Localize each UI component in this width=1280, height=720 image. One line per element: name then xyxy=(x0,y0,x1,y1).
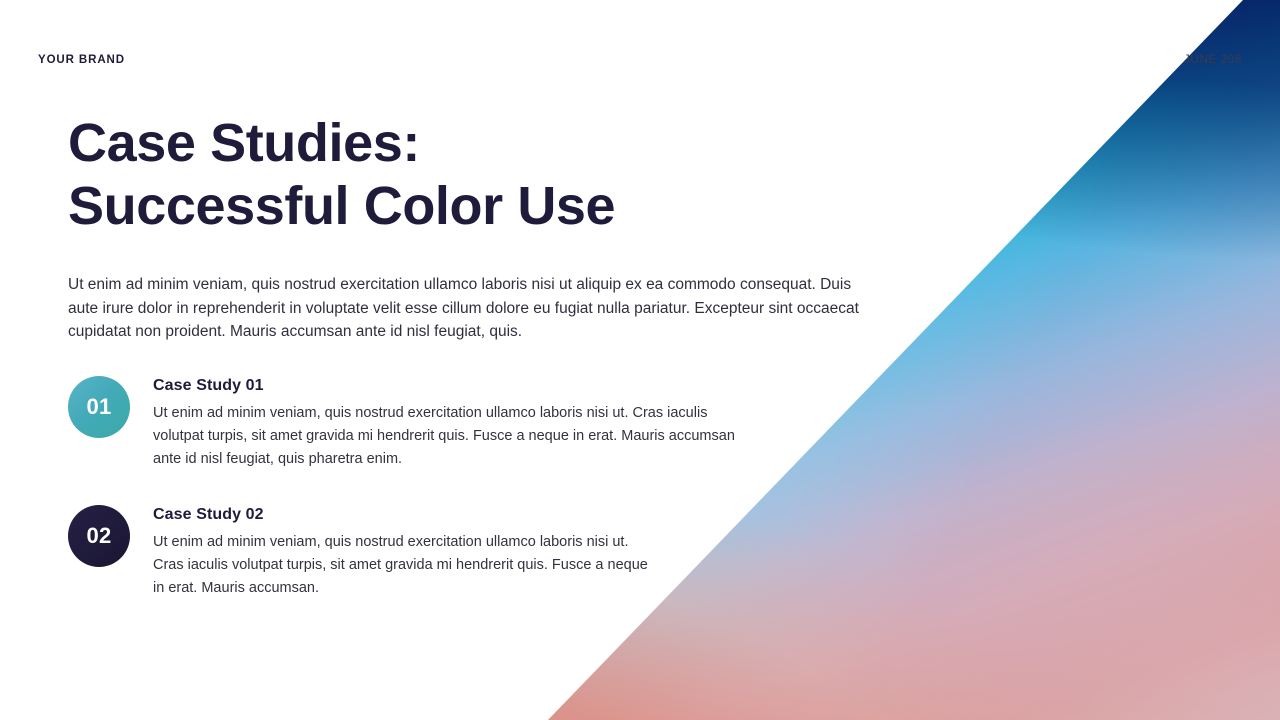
page-title-line-1: Case Studies: xyxy=(68,112,788,175)
case-title-02: Case Study 02 xyxy=(153,506,653,524)
case-number-badge-02: 02 xyxy=(68,505,130,567)
gradient-pink-wash xyxy=(0,0,1280,720)
page-title-line-2: Successful Color Use xyxy=(68,175,788,238)
case-body-01: Case Study 01 Ut enim ad minim veniam, q… xyxy=(153,376,753,471)
slide-date-label: JUNE 208 xyxy=(1184,54,1242,66)
intro-paragraph: Ut enim ad minim veniam, quis nostrud ex… xyxy=(68,273,868,344)
gradient-coral-bloom xyxy=(0,0,1280,720)
case-text-02: Ut enim ad minim veniam, quis nostrud ex… xyxy=(153,531,653,600)
slide-header: YOUR BRAND JUNE 208 xyxy=(38,50,1242,70)
gradient-peach-corner xyxy=(0,0,1280,720)
gradient-base-layer xyxy=(0,0,1280,720)
case-study-list: 01 Case Study 01 Ut enim ad minim veniam… xyxy=(68,376,798,599)
slide: YOUR BRAND JUNE 208 Case Studies: Succes… xyxy=(0,0,1280,720)
case-text-01: Ut enim ad minim veniam, quis nostrud ex… xyxy=(153,402,753,471)
case-body-02: Case Study 02 Ut enim ad minim veniam, q… xyxy=(153,505,653,600)
gradient-cyan-band xyxy=(0,0,1280,720)
gradient-navy-corner xyxy=(0,0,1280,720)
list-item: 02 Case Study 02 Ut enim ad minim veniam… xyxy=(68,505,798,600)
list-item: 01 Case Study 01 Ut enim ad minim veniam… xyxy=(68,376,798,471)
case-title-01: Case Study 01 xyxy=(153,377,753,395)
case-number-badge-01: 01 xyxy=(68,376,130,438)
page-title: Case Studies: Successful Color Use xyxy=(68,112,788,237)
brand-label: YOUR BRAND xyxy=(38,54,125,66)
diagonal-gradient-shape xyxy=(0,0,1280,720)
